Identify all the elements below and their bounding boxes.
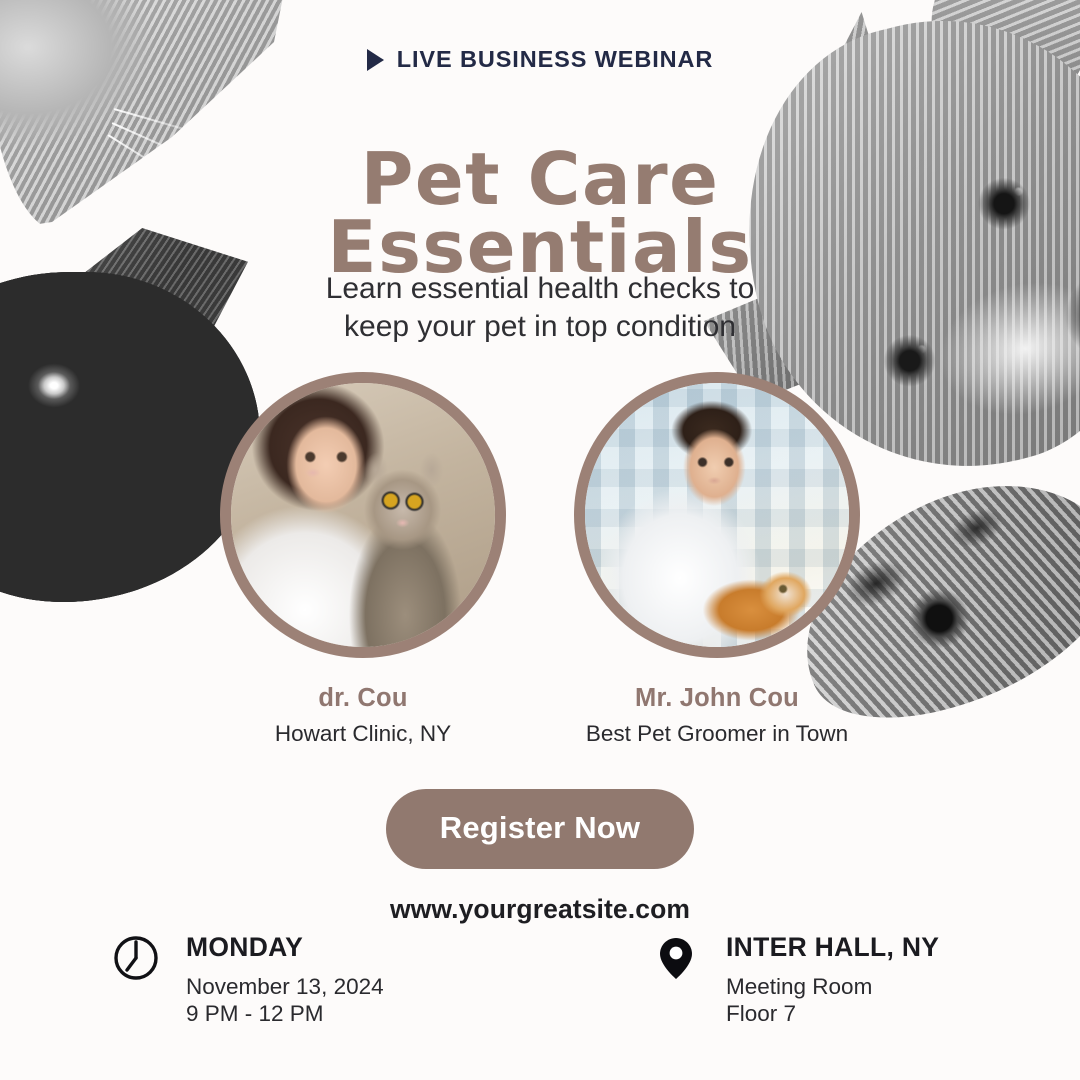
date-info-block: MONDAY November 13, 2024 9 PM - 12 PM	[112, 932, 652, 1027]
location-title: INTER HALL, NY	[726, 932, 939, 962]
location-info-block: INTER HALL, NY Meeting Room Floor 7	[652, 932, 1020, 1027]
date-line-2: 9 PM - 12 PM	[186, 1000, 384, 1027]
speaker-2-name: Mr. John Cou	[569, 684, 865, 713]
subtitle-line-1: Learn essential health checks to	[0, 270, 1080, 308]
avatar	[574, 372, 860, 658]
website-url[interactable]: www.yourgreatsite.com	[0, 894, 1080, 925]
page-title: Pet Care Essentials	[0, 145, 1080, 281]
eyebrow-label: LIVE BUSINESS WEBINAR	[397, 46, 714, 73]
speakers-section: dr. Cou Howart Clinic, NY Mr. John Cou B…	[0, 372, 1080, 747]
location-line-1: Meeting Room	[726, 973, 939, 1000]
speaker-1-name: dr. Cou	[215, 684, 511, 713]
speaker-1-photo	[231, 383, 495, 647]
avatar	[220, 372, 506, 658]
date-line-1: November 13, 2024	[186, 973, 384, 1000]
play-triangle-icon	[367, 49, 384, 71]
webinar-poster: LIVE BUSINESS WEBINAR Pet Care Essential…	[0, 0, 1080, 1080]
speaker-card-1: dr. Cou Howart Clinic, NY	[215, 372, 511, 747]
register-now-button[interactable]: Register Now	[386, 789, 695, 869]
page-subtitle: Learn essential health checks to keep yo…	[0, 270, 1080, 346]
location-line-2: Floor 7	[726, 1000, 939, 1027]
speaker-2-role: Best Pet Groomer in Town	[569, 721, 865, 747]
cta-section: Register Now www.yourgreatsite.com	[0, 789, 1080, 925]
date-title: MONDAY	[186, 932, 384, 962]
footer-info: MONDAY November 13, 2024 9 PM - 12 PM IN…	[112, 932, 1020, 1027]
speaker-1-role: Howart Clinic, NY	[215, 721, 511, 747]
subtitle-line-2: keep your pet in top condition	[0, 308, 1080, 346]
eyebrow-banner: LIVE BUSINESS WEBINAR	[0, 46, 1080, 73]
speaker-card-2: Mr. John Cou Best Pet Groomer in Town	[569, 372, 865, 747]
speaker-2-photo	[585, 383, 849, 647]
map-pin-icon	[652, 932, 704, 1027]
clock-icon	[112, 932, 164, 1027]
